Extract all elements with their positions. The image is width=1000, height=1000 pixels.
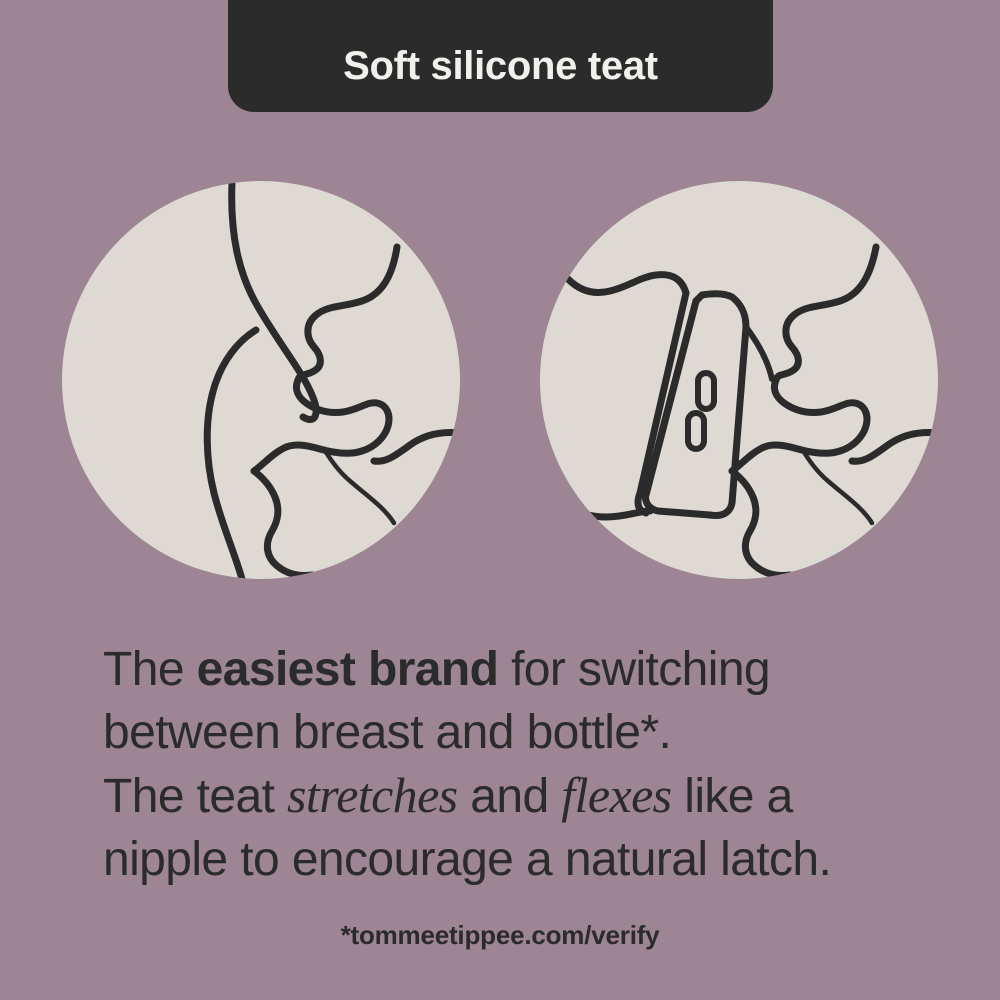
illustration-row	[0, 181, 1000, 581]
copy-line-1-part-2: for switching	[498, 643, 770, 696]
copy-line-1: The easiest brand for switching	[103, 638, 933, 701]
header-banner: Soft silicone teat	[228, 0, 773, 112]
copy-line-1-emphasis: easiest brand	[197, 643, 499, 696]
breastfeeding-latch-illustration	[62, 181, 460, 579]
copy-line-1-part-1: The	[103, 643, 197, 696]
copy-line-3-italic-flexes: flexes	[561, 767, 671, 823]
bottle-teat-latch-illustration	[540, 181, 938, 579]
circle-background	[62, 181, 460, 579]
copy-line-3-italic-stretches: stretches	[287, 767, 457, 823]
page-title: Soft silicone teat	[343, 46, 658, 86]
copy-line-3-part-3: like a	[672, 770, 793, 823]
footnote-verify-url: *tommeetippee.com/verify	[0, 920, 1000, 951]
copy-line-3: The teat stretches and flexes like a	[103, 764, 933, 828]
copy-line-3-part-1: The teat	[103, 770, 287, 823]
copy-line-3-part-2: and	[458, 770, 562, 823]
copy-line-2: between breast and bottle*.	[103, 701, 933, 764]
promo-poster: Soft silicone teat	[0, 0, 1000, 1000]
body-copy: The easiest brand for switching between …	[103, 638, 933, 891]
copy-line-4: nipple to encourage a natural latch.	[103, 828, 933, 891]
